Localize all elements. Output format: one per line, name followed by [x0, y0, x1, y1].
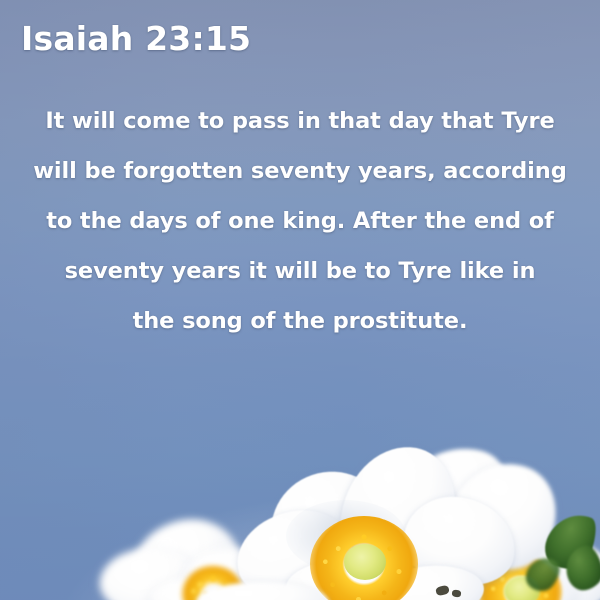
verse-line: to the days of one king. After the end o…: [28, 196, 572, 246]
scripture-image-card: Isaiah 23:15 It will come to pass in tha…: [0, 0, 600, 600]
sky-haze-glow: [0, 370, 600, 600]
verse-line: the song of the prostitute.: [28, 296, 572, 346]
verse-reference-title: Isaiah 23:15: [21, 19, 251, 58]
verse-line: It will come to pass in that day that Ty…: [28, 96, 572, 146]
verse-line: seventy years it will be to Tyre like in: [28, 246, 572, 296]
verse-text: It will come to pass in that day that Ty…: [28, 96, 572, 346]
verse-line: will be forgotten seventy years, accordi…: [28, 146, 572, 196]
